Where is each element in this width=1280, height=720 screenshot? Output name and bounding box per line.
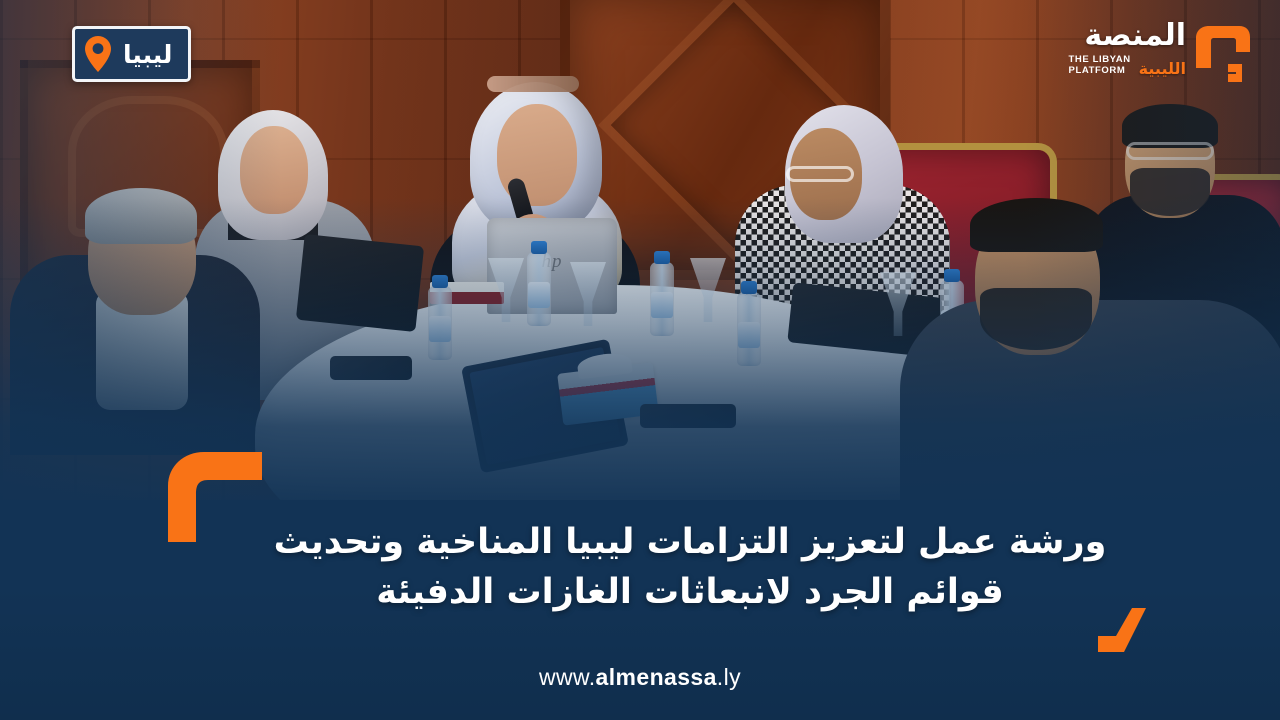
url-prefix: www. <box>539 664 596 690</box>
url-name: almenassa <box>596 664 717 690</box>
water-bottle <box>737 292 761 366</box>
water-bottle <box>650 262 674 336</box>
map-pin-icon <box>85 36 111 72</box>
water-bottle <box>527 252 551 326</box>
phone-center <box>640 404 736 428</box>
water-bottle <box>428 286 452 360</box>
laptop-black-left <box>296 234 424 332</box>
location-label: ليبيا <box>123 42 172 67</box>
location-badge[interactable]: ليبيا <box>72 26 191 82</box>
site-url[interactable]: www.almenassa.ly <box>0 664 1280 691</box>
logo-english: THE LIBYAN PLATFORM <box>1069 54 1131 78</box>
orange-bracket-mark-icon <box>1192 22 1254 88</box>
logo-english-line1: THE LIBYAN <box>1069 54 1131 66</box>
phone-left <box>330 356 412 380</box>
url-tld: .ly <box>717 664 741 690</box>
page-title: ورشة عمل لتعزيز التزامات ليبيا المناخية … <box>220 518 1160 617</box>
logo-arabic-main: المنصة <box>1069 22 1186 51</box>
logo-text-block: المنصة THE LIBYAN PLATFORM الليبية <box>1069 18 1186 77</box>
logo-english-line2: PLATFORM <box>1069 65 1131 77</box>
logo-arabic-sub: الليبية <box>1139 60 1186 78</box>
poster-canvas: hp ليبيا <box>0 0 1280 720</box>
site-logo[interactable]: المنصة THE LIBYAN PLATFORM الليبية <box>1069 18 1254 88</box>
